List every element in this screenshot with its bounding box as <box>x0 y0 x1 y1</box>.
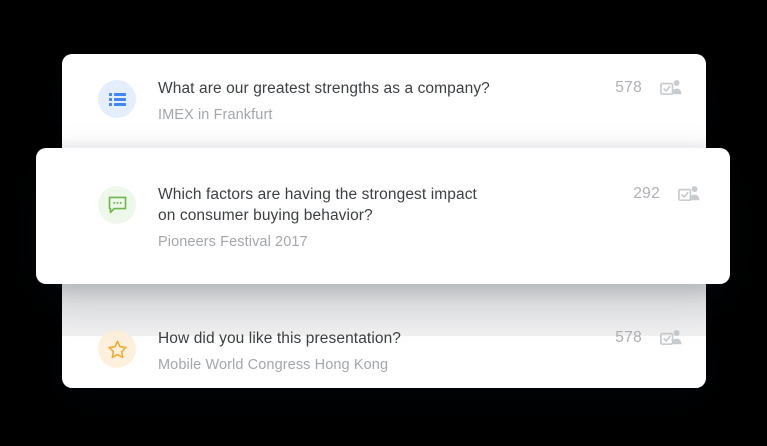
list-item-elevated[interactable]: Which factors are having the strongest i… <box>36 148 730 284</box>
chat-bubble-icon <box>98 186 136 224</box>
list-item-meta: 578 <box>612 79 682 97</box>
question-event: Pioneers Festival 2017 <box>158 232 630 252</box>
question-event: Mobile World Congress Hong Kong <box>158 355 612 375</box>
responses-person-icon <box>660 79 682 97</box>
response-count: 578 <box>612 329 642 347</box>
star-icon <box>98 330 136 368</box>
list-item-text: How did you like this presentation? Mobi… <box>136 328 612 375</box>
list-item-text: What are our greatest strengths as a com… <box>136 78 612 125</box>
question-title: What are our greatest strengths as a com… <box>158 78 612 99</box>
list-item[interactable]: What are our greatest strengths as a com… <box>62 54 706 140</box>
list-item[interactable]: How did you like this presentation? Mobi… <box>62 316 706 388</box>
list-item-text: Which factors are having the strongest i… <box>136 184 630 252</box>
poll-list-icon <box>98 80 136 118</box>
question-title: Which factors are having the strongest i… <box>158 184 630 226</box>
responses-person-icon <box>660 329 682 347</box>
list-item-meta: 578 <box>612 329 682 347</box>
question-event: IMEX in Frankfurt <box>158 105 612 125</box>
list-item-meta: 292 <box>630 185 700 203</box>
screenshot-stage: What are our greatest strengths as a com… <box>0 0 767 446</box>
responses-person-icon <box>678 185 700 203</box>
response-count: 292 <box>630 185 660 203</box>
response-count: 578 <box>612 79 642 97</box>
question-title: How did you like this presentation? <box>158 328 612 349</box>
